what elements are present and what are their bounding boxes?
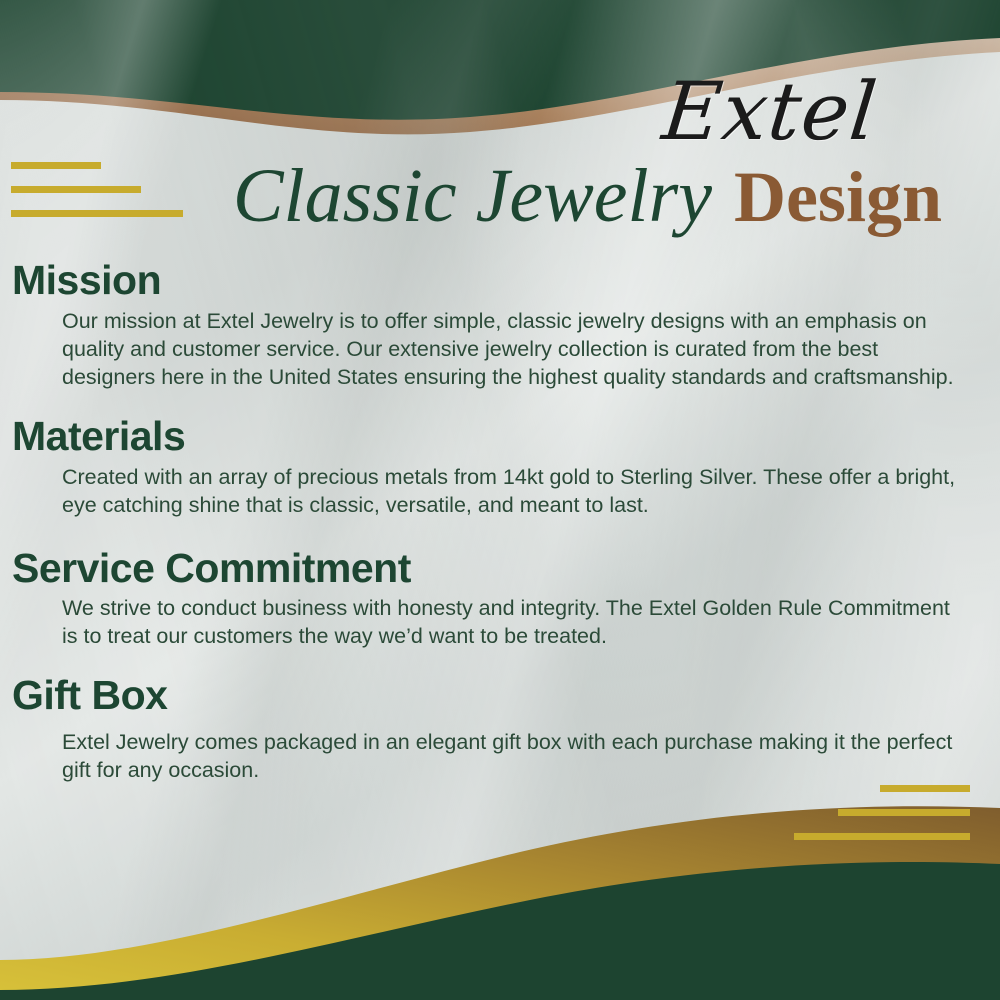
section-body-gift-box: Extel Jewelry comes packaged in an elega…: [62, 729, 970, 785]
section-body-mission: Our mission at Extel Jewelry is to offer…: [62, 308, 970, 392]
gold-rule-line: [880, 785, 970, 792]
sections-container: Mission Our mission at Extel Jewelry is …: [0, 258, 1000, 785]
section-mission: Mission Our mission at Extel Jewelry is …: [0, 258, 1000, 392]
gold-rule-line: [838, 809, 970, 816]
title-primary: Classic Jewelry: [233, 158, 712, 234]
section-service-commitment: Service Commitment We strive to conduct …: [0, 546, 1000, 652]
section-body-service-commitment: We strive to conduct business with hones…: [62, 595, 970, 651]
section-body-materials: Created with an array of precious metals…: [62, 464, 970, 520]
section-heading-materials: Materials: [12, 414, 1000, 460]
section-heading-service-commitment: Service Commitment: [12, 546, 1000, 592]
gold-rule-line: [794, 833, 970, 840]
title-secondary: Design: [734, 161, 942, 233]
page-title: Classic Jewelry Design: [0, 158, 1000, 250]
section-heading-mission: Mission: [12, 258, 1000, 304]
decorative-lines-bottom-right: [794, 785, 970, 857]
section-gift-box: Gift Box Extel Jewelry comes packaged in…: [0, 673, 1000, 785]
poster-canvas: Extel Classic Jewelry Design Mission Our…: [0, 0, 1000, 1000]
section-materials: Materials Created with an array of preci…: [0, 414, 1000, 520]
section-heading-gift-box: Gift Box: [12, 673, 1000, 719]
brand-wordmark: Extel: [596, 72, 944, 152]
